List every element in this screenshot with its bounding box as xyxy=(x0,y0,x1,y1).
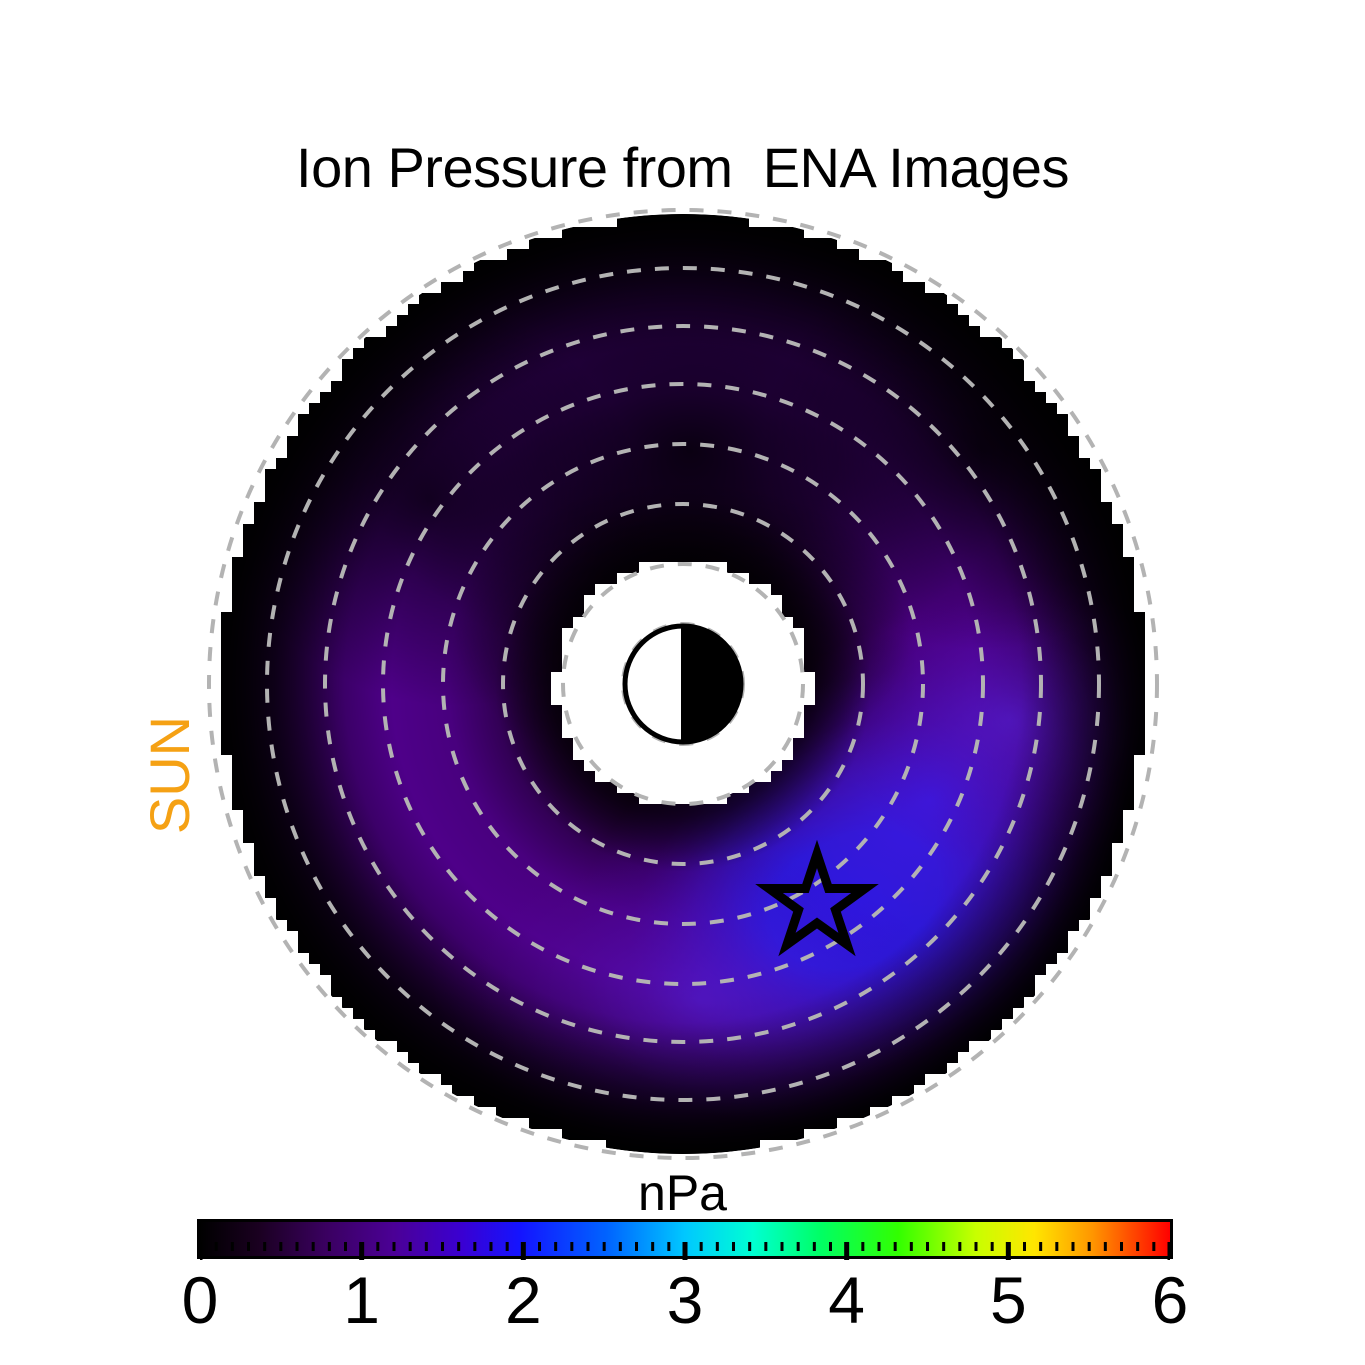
polar-plot-area: SUN xyxy=(0,200,1365,1170)
colorbar-ticks xyxy=(200,1242,1170,1264)
colorbar-tick-6: 6 xyxy=(1110,1262,1230,1338)
colorbar-unit-label: nPa xyxy=(0,1166,1365,1220)
ena-pressure-figure: Ion Pressure from ENA Images 08Oct2015, … xyxy=(0,0,1365,1365)
colorbar-tick-5: 5 xyxy=(948,1262,1068,1338)
colorbar-tick-labels: 0123456 xyxy=(0,1262,1365,1342)
title-line-1: Ion Pressure from ENA Images xyxy=(0,136,1365,200)
polar-pressure-map xyxy=(0,200,1365,1170)
earth-icon xyxy=(625,626,741,742)
colorbar-tick-2: 2 xyxy=(463,1262,583,1338)
colorbar-tick-3: 3 xyxy=(625,1262,745,1338)
sun-direction-label: SUN xyxy=(140,675,200,875)
colorbar-tick-0: 0 xyxy=(140,1262,260,1338)
colorbar-tick-4: 4 xyxy=(787,1262,907,1338)
colorbar-tick-1: 1 xyxy=(302,1262,422,1338)
